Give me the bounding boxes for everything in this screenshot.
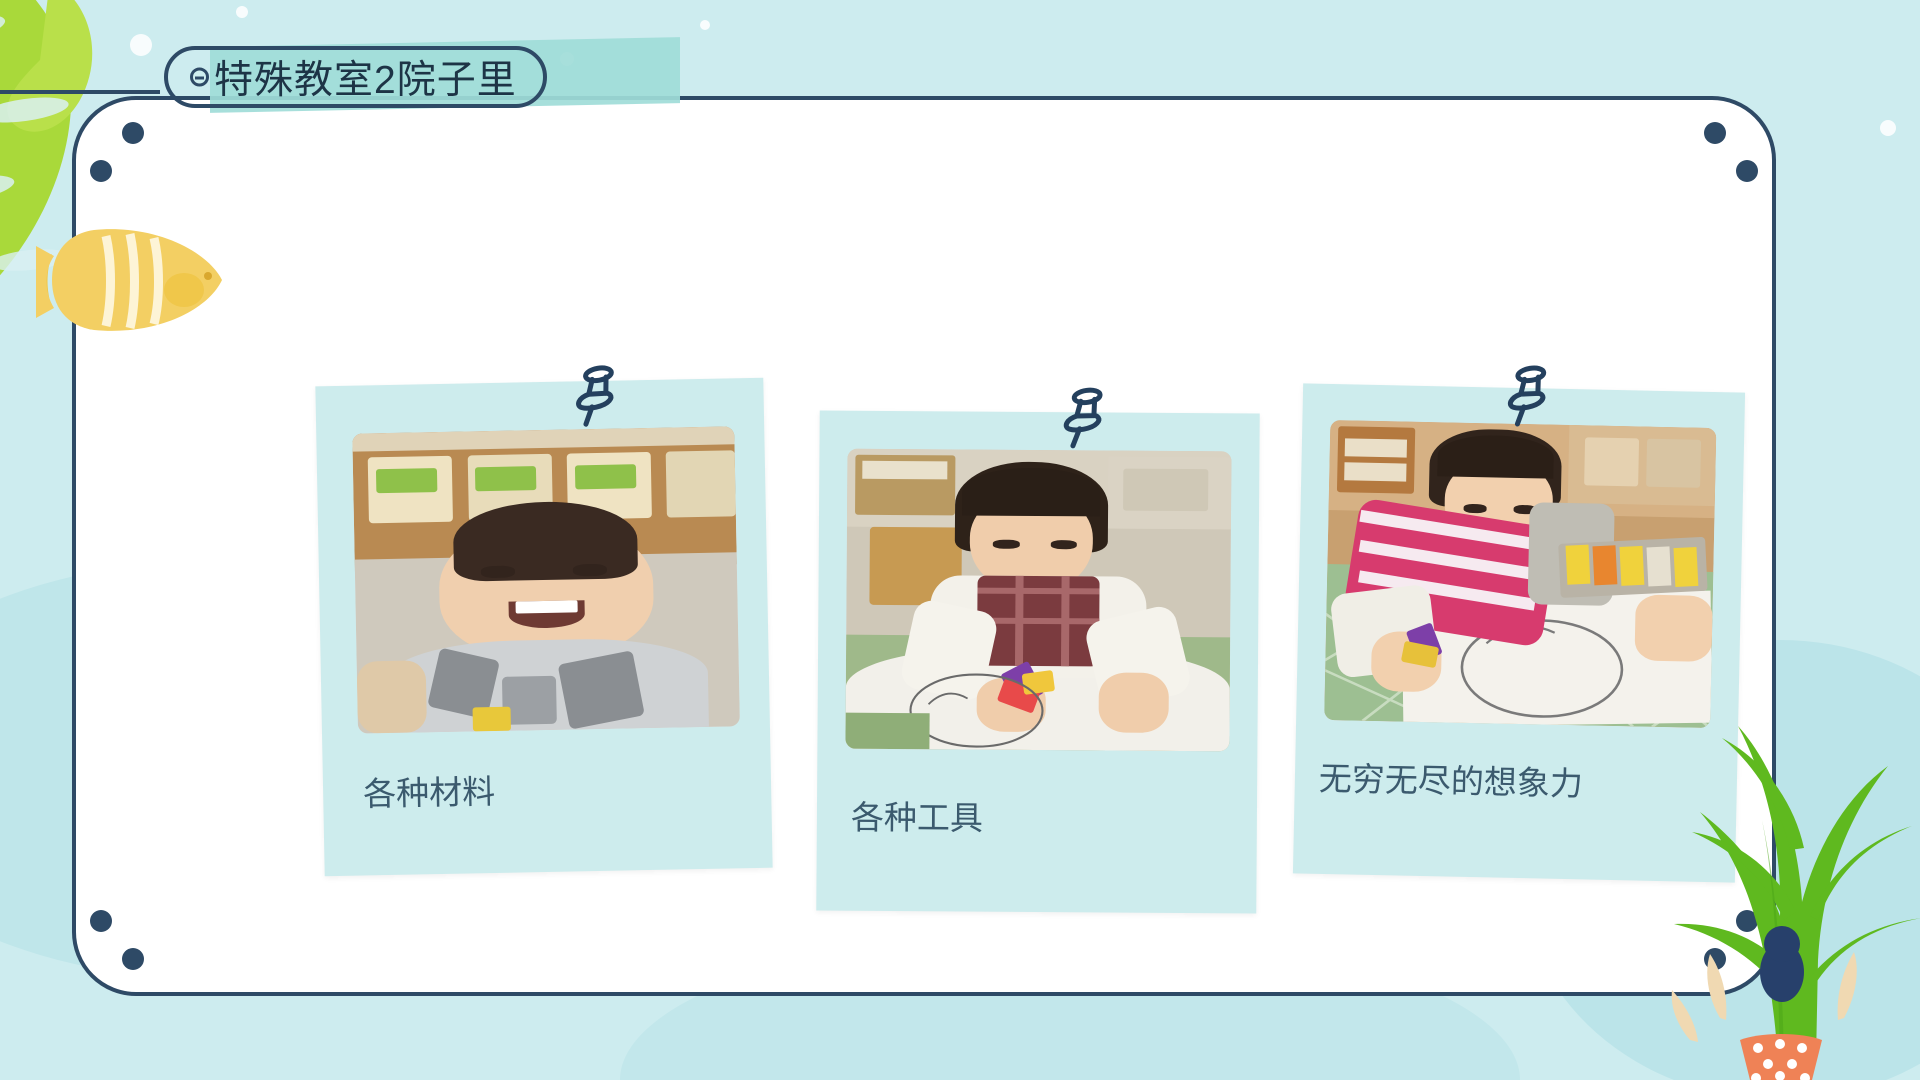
bubble-dot (236, 6, 248, 18)
photo-thumbnail (352, 426, 740, 733)
main-content-frame: 各种材料 (72, 96, 1776, 996)
photo-thumbnail (845, 449, 1231, 752)
pushpin-icon (1495, 358, 1561, 432)
photo-card[interactable]: 各种工具 (816, 410, 1259, 913)
title-label: 特殊教室2院子里 (214, 49, 517, 105)
minus-circle-icon (190, 68, 209, 87)
title-pill: 特殊教室2院子里 (164, 46, 547, 108)
seaweed-plant-icon (1630, 520, 1920, 1080)
bubble-dot (700, 20, 710, 30)
photo-card[interactable]: 各种材料 (315, 378, 772, 877)
photo-gallery: 各种材料 (76, 100, 1772, 992)
pushpin-icon (1052, 380, 1117, 453)
pushpin-icon (563, 358, 630, 433)
photo-caption: 各种材料 (363, 765, 496, 816)
bubble-dot (1880, 120, 1896, 136)
title-connector-line (0, 90, 160, 94)
photo-caption: 各种工具 (851, 791, 983, 840)
fish-icon (36, 222, 226, 342)
photo-caption: 无穷无尽的想象力 (1318, 752, 1583, 806)
